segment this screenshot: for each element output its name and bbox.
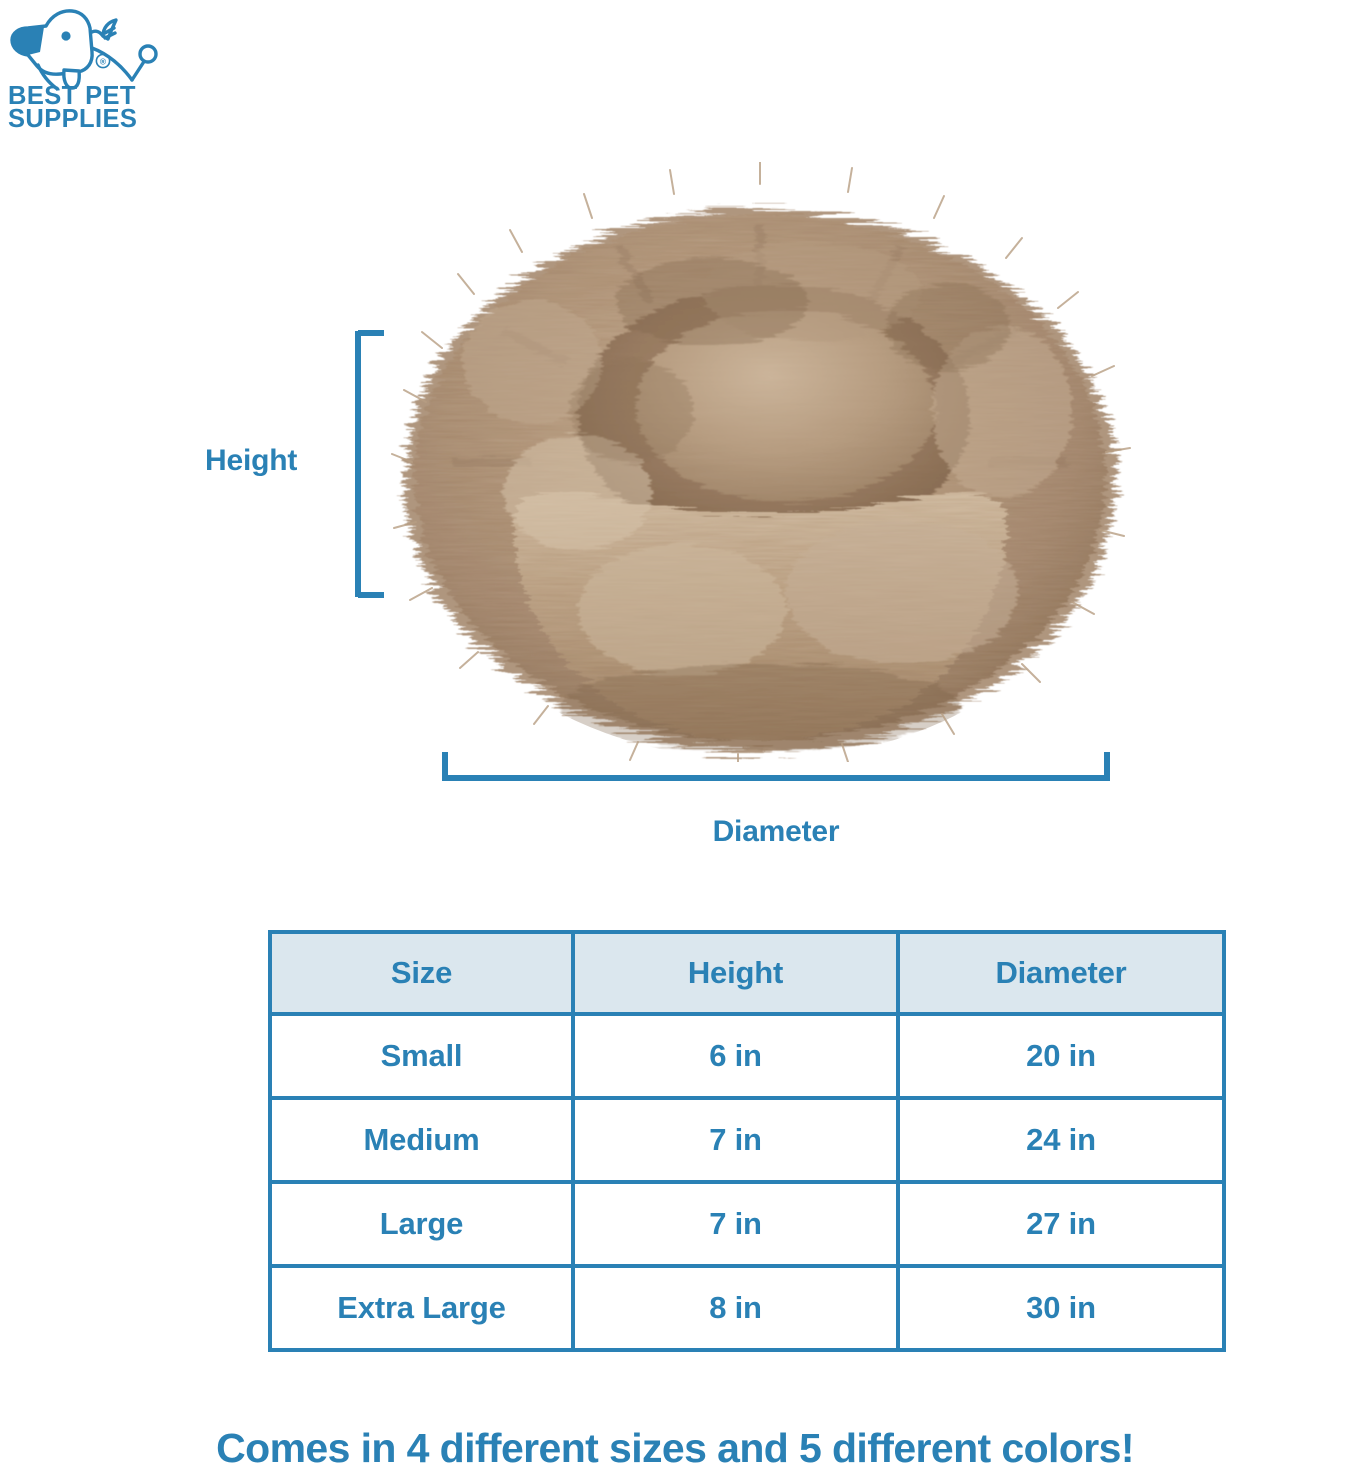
cell-height: 7 in [573, 1098, 898, 1182]
diameter-label-wrap: Diameter [0, 815, 1350, 849]
cell-size: Extra Large [270, 1266, 573, 1350]
infographic-page: ® BEST PET SUPPLIES [0, 0, 1350, 1475]
brand-logo: ® BEST PET SUPPLIES [4, 2, 164, 130]
cell-size: Small [270, 1014, 573, 1098]
size-chart: Size Height Diameter Small 6 in 20 in Me… [268, 930, 1222, 1328]
cell-diameter: 27 in [898, 1182, 1224, 1266]
cell-diameter: 24 in [898, 1098, 1224, 1182]
table-row: Extra Large 8 in 30 in [270, 1266, 1224, 1350]
footer-tagline: Comes in 4 different sizes and 5 differe… [0, 1425, 1350, 1472]
size-table: Size Height Diameter Small 6 in 20 in Me… [268, 930, 1226, 1352]
diameter-label: Diameter [713, 815, 840, 849]
pet-bed-product-image [382, 162, 1138, 762]
table-header-row: Size Height Diameter [270, 932, 1224, 1014]
cell-height: 6 in [573, 1014, 898, 1098]
table-row: Medium 7 in 24 in [270, 1098, 1224, 1182]
cell-diameter: 30 in [898, 1266, 1224, 1350]
column-header-size: Size [270, 932, 573, 1014]
svg-text:®: ® [100, 57, 107, 67]
cell-height: 7 in [573, 1182, 898, 1266]
logo-wordmark-line2: SUPPLIES [8, 105, 137, 130]
dog-tail-icon [140, 46, 156, 62]
registered-trademark-icon: ® [96, 54, 109, 67]
dog-logo-icon: ® BEST PET SUPPLIES [4, 2, 164, 130]
column-header-diameter: Diameter [898, 932, 1224, 1014]
column-header-height: Height [573, 932, 898, 1014]
height-dimension-bracket [350, 328, 390, 600]
dog-eye-icon [61, 31, 70, 40]
cell-diameter: 20 in [898, 1014, 1224, 1098]
height-label: Height [205, 444, 345, 478]
cell-size: Medium [270, 1098, 573, 1182]
diameter-dimension-bracket [438, 748, 1114, 784]
table-row: Large 7 in 27 in [270, 1182, 1224, 1266]
cell-height: 8 in [573, 1266, 898, 1350]
cell-size: Large [270, 1182, 573, 1266]
table-row: Small 6 in 20 in [270, 1014, 1224, 1098]
